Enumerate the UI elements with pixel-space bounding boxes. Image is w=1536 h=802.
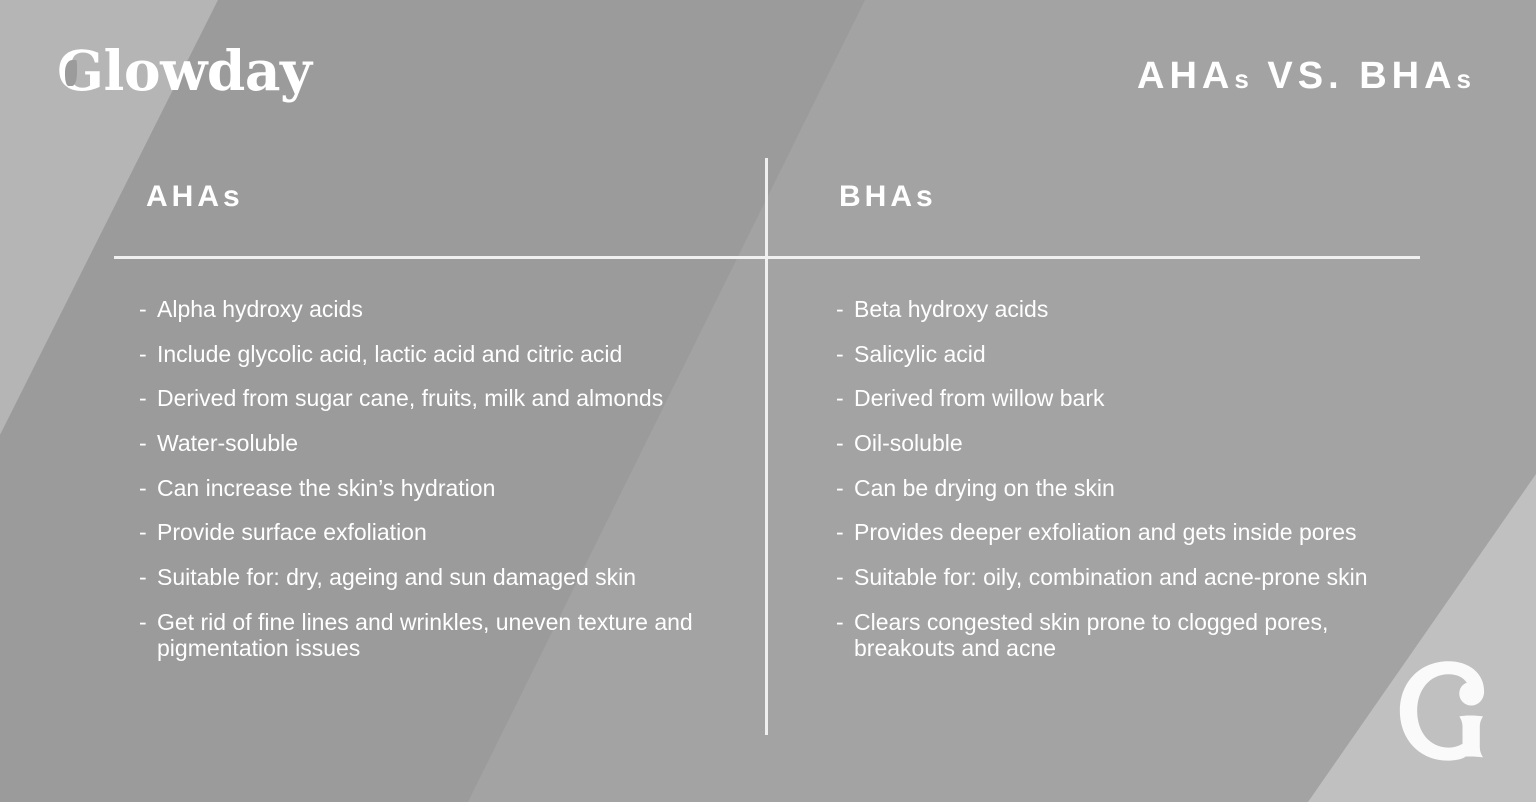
list-item-text: Alpha hydroxy acids [157,296,699,323]
bullet-marker: - [836,609,854,636]
list-item-text: Suitable for: dry, ageing and sun damage… [157,564,699,591]
list-item-text: Clears congested skin prone to clogged p… [854,609,1406,662]
list-item: -Water-soluble [139,430,699,457]
glowday-wordmark: Glowday [57,43,311,98]
list-item-text: Include glycolic acid, lactic acid and c… [157,341,699,368]
list-item-text: Derived from willow bark [854,385,1406,412]
bullet-list-ahas: -Alpha hydroxy acids-Include glycolic ac… [139,296,699,662]
list-item-text: Oil-soluble [854,430,1406,457]
comparison-table: AHAs BHAs -Alpha hydroxy acids-Include g… [0,0,1536,802]
list-item: -Alpha hydroxy acids [139,296,699,323]
title-vs: VS. [1252,55,1359,97]
list-item: -Derived from sugar cane, fruits, milk a… [139,385,699,412]
list-item-text: Get rid of fine lines and wrinkles, unev… [157,609,699,662]
bullet-marker: - [139,341,157,368]
bullet-marker: - [836,341,854,368]
glowday-face-g-monogram-icon [1388,658,1496,766]
wordmark-rest: lowday [103,43,311,98]
bullet-marker: - [139,564,157,591]
page-title: AHAs VS. BHAs [1137,55,1474,98]
title-bha: BHA [1359,55,1456,97]
bullet-marker: - [836,430,854,457]
list-item: -Can increase the skin’s hydration [139,475,699,502]
column-ahas: -Alpha hydroxy acids-Include glycolic ac… [139,296,699,680]
vertical-divider [765,158,768,735]
list-item: -Suitable for: dry, ageing and sun damag… [139,564,699,591]
list-item-text: Beta hydroxy acids [854,296,1406,323]
list-item: -Include glycolic acid, lactic acid and … [139,341,699,368]
list-item-text: Water-soluble [157,430,699,457]
list-item: -Clears congested skin prone to clogged … [836,609,1406,662]
bullet-marker: - [139,385,157,412]
bullet-marker: - [139,519,157,546]
list-item-text: Can be drying on the skin [854,475,1406,502]
bullet-marker: - [836,475,854,502]
list-item-text: Derived from sugar cane, fruits, milk an… [157,385,699,412]
title-aha: AHA [1137,55,1234,97]
bullet-marker: - [139,475,157,502]
bullet-marker: - [139,430,157,457]
list-item: -Oil-soluble [836,430,1406,457]
list-item: -Provides deeper exfoliation and gets in… [836,519,1406,546]
title-aha-s: s [1234,64,1251,94]
bullet-marker: - [836,296,854,323]
title-bha-s: s [1457,64,1474,94]
list-item-text: Provide surface exfoliation [157,519,699,546]
infographic-slide: Glowday AHAs VS. BHAs AHAs BHAs -Alpha h… [0,0,1536,802]
list-item-text: Provides deeper exfoliation and gets ins… [854,519,1406,546]
list-item-text: Suitable for: oily, combination and acne… [854,564,1406,591]
list-item: -Suitable for: oily, combination and acn… [836,564,1406,591]
column-heading-bhas: BHAs [839,182,937,212]
bullet-marker: - [139,296,157,323]
bullet-marker: - [836,564,854,591]
column-bhas: -Beta hydroxy acids-Salicylic acid-Deriv… [836,296,1406,680]
list-item: -Provide surface exfoliation [139,519,699,546]
bullet-list-bhas: -Beta hydroxy acids-Salicylic acid-Deriv… [836,296,1406,662]
list-item: -Can be drying on the skin [836,475,1406,502]
list-item-text: Salicylic acid [854,341,1406,368]
bullet-marker: - [836,385,854,412]
list-item-text: Can increase the skin’s hydration [157,475,699,502]
list-item: -Beta hydroxy acids [836,296,1406,323]
column-heading-ahas: AHAs [146,182,244,212]
bullet-marker: - [139,609,157,636]
list-item: -Derived from willow bark [836,385,1406,412]
list-item: -Get rid of fine lines and wrinkles, une… [139,609,699,662]
list-item: -Salicylic acid [836,341,1406,368]
bullet-marker: - [836,519,854,546]
wordmark-g-letter: G [57,43,103,98]
